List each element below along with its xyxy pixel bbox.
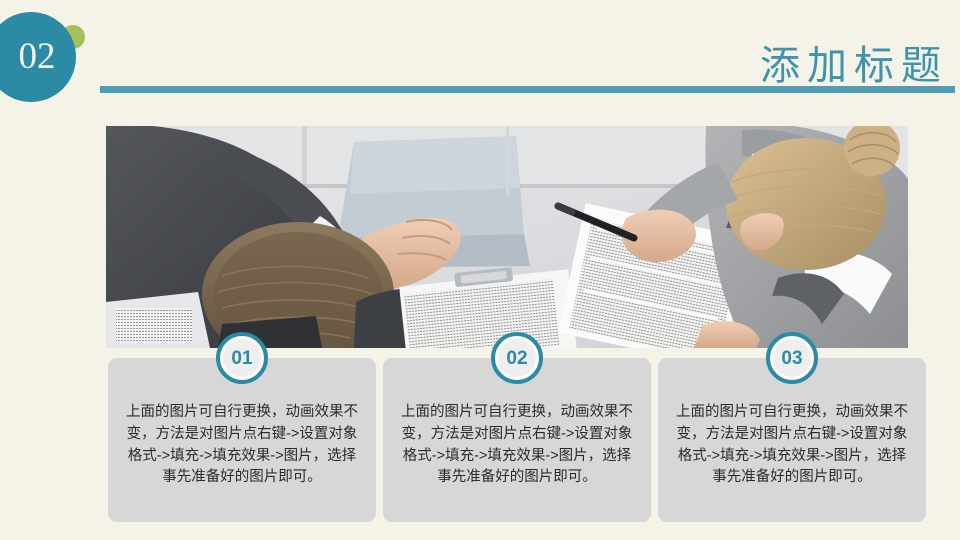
info-card-01[interactable]: 01 上面的图片可自行更换，动画效果不变，方法是对图片点右键->设置对象格式->… xyxy=(108,358,376,522)
info-card-row: 01 上面的图片可自行更换，动画效果不变，方法是对图片点右键->设置对象格式->… xyxy=(108,358,926,522)
card-number-label: 03 xyxy=(781,348,802,368)
info-card-02[interactable]: 02 上面的图片可自行更换，动画效果不变，方法是对图片点右键->设置对象格式->… xyxy=(383,358,651,522)
title-divider-rule xyxy=(100,86,955,93)
content-photo xyxy=(106,126,908,348)
photo-illustration xyxy=(106,126,908,348)
card-body-text: 上面的图片可自行更换，动画效果不变，方法是对图片点右键->设置对象格式->填充-… xyxy=(672,402,912,489)
card-body-text: 上面的图片可自行更换，动画效果不变，方法是对图片点右键->设置对象格式->填充-… xyxy=(122,402,362,489)
card-number-label: 02 xyxy=(506,348,527,368)
section-number-badge: 02 xyxy=(0,12,76,102)
card-number-badge-02: 02 xyxy=(491,332,543,384)
section-number-label: 02 xyxy=(7,38,56,77)
card-number-badge-01: 01 xyxy=(216,332,268,384)
page-title: 添加标题 xyxy=(760,33,948,91)
slide-canvas: 02 添加标题 xyxy=(0,0,960,540)
card-number-label: 01 xyxy=(231,348,252,368)
card-body-text: 上面的图片可自行更换，动画效果不变，方法是对图片点右键->设置对象格式->填充-… xyxy=(397,402,637,489)
card-number-badge-03: 03 xyxy=(766,332,818,384)
info-card-03[interactable]: 03 上面的图片可自行更换，动画效果不变，方法是对图片点右键->设置对象格式->… xyxy=(658,358,926,522)
